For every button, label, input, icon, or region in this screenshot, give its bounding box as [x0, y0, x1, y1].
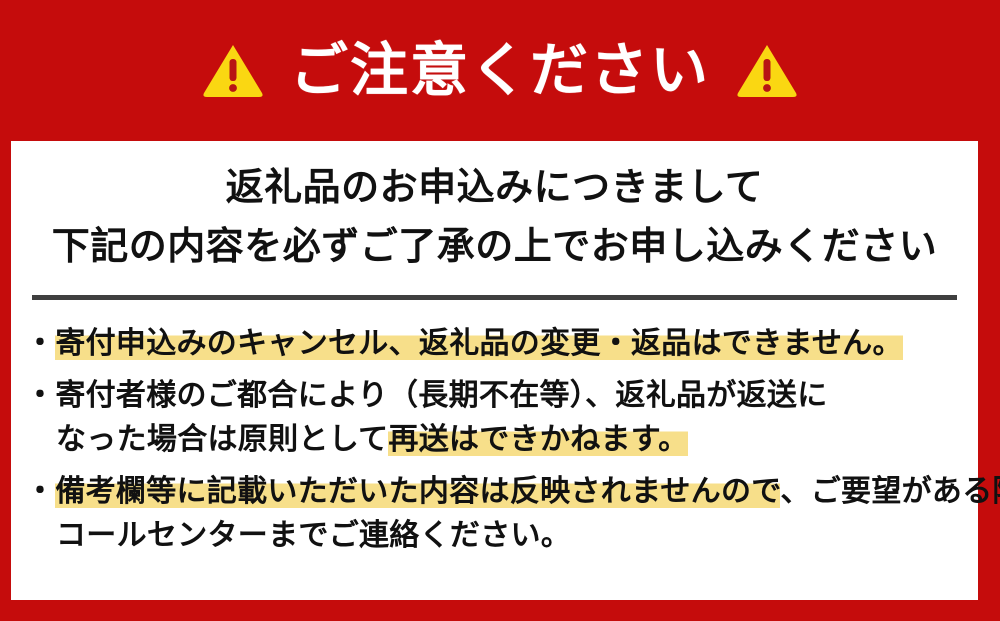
warning-triangle-icon	[202, 43, 264, 99]
notice-list-item: ・備考欄等に記載いただいた内容は反映されませんので、ご要望がある際はコールセンタ…	[11, 470, 978, 558]
notice-text: コールセンターまでご連絡ください。	[56, 519, 571, 552]
notice-banner: ご注意ください 返礼品のお申込みにつきまして 下記の内容を必ずご了承の上でお申し…	[0, 0, 1000, 621]
notice-list-item-line: コールセンターまでご連絡ください。	[25, 514, 978, 558]
notice-list-item-line: ・備考欄等に記載いただいた内容は反映されませんので、ご要望がある際は	[25, 470, 978, 514]
banner-header: ご注意ください	[0, 0, 1000, 141]
notice-list: ・寄付申込みのキャンセル、返礼品の変更・返品はできません。・寄付者様のご都合によ…	[11, 300, 978, 558]
highlighted-text: 寄付申込みのキャンセル、返礼品の変更・返品はできません。	[55, 327, 903, 360]
notice-list-item: ・寄付申込みのキャンセル、返礼品の変更・返品はできません。	[11, 322, 978, 366]
notice-heading: 返礼品のお申込みにつきまして 下記の内容を必ずご了承の上でお申し込みください	[11, 141, 978, 277]
bullet-marker: ・	[25, 379, 55, 412]
highlighted-text: 再送はできかねます。	[388, 423, 688, 456]
notice-list-item: ・寄付者様のご都合により（長期不在等）、返礼品が返送になった場合は原則として再送…	[11, 374, 978, 462]
bullet-marker: ・	[25, 327, 55, 360]
notice-text: 寄付者様のご都合により（長期不在等）、返礼品が返送に	[55, 379, 827, 412]
notice-panel: 返礼品のお申込みにつきまして 下記の内容を必ずご了承の上でお申し込みください ・…	[11, 141, 978, 600]
notice-heading-line-1: 返礼品のお申込みにつきまして	[11, 159, 978, 218]
notice-heading-line-2: 下記の内容を必ずご了承の上でお申し込みください	[11, 218, 978, 277]
notice-text: なった場合は原則として	[56, 423, 388, 456]
notice-list-item-line: なった場合は原則として再送はできかねます。	[25, 418, 978, 462]
warning-triangle-icon	[736, 43, 798, 99]
bullet-marker: ・	[25, 475, 55, 508]
notice-list-item-line: ・寄付申込みのキャンセル、返礼品の変更・返品はできません。	[25, 322, 978, 366]
banner-header-title: ご注意ください	[290, 42, 710, 100]
highlighted-text: 備考欄等に記載いただいた内容は反映されませんので	[55, 475, 780, 508]
notice-list-item-line: ・寄付者様のご都合により（長期不在等）、返礼品が返送に	[25, 374, 978, 418]
notice-text: 、ご要望がある際は	[780, 475, 1000, 508]
